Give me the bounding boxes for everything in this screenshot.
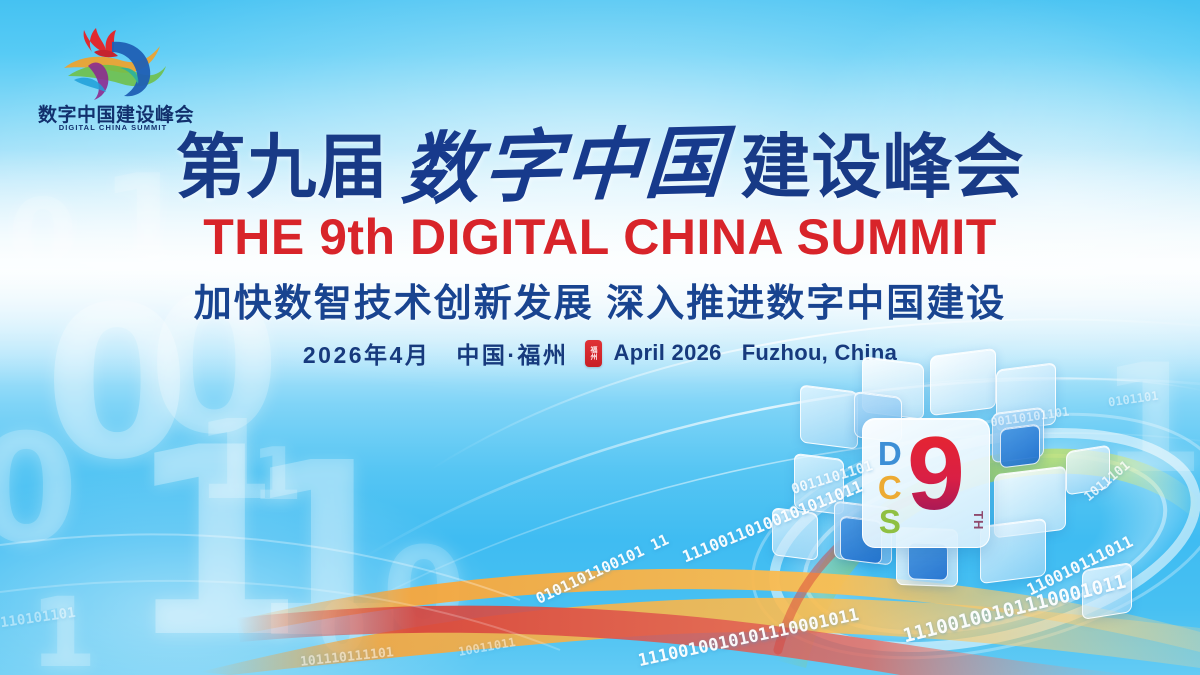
digital-china-summit-emblem-icon <box>54 22 172 100</box>
ghost-digit: 1 <box>30 595 95 672</box>
cube-tile <box>772 507 818 561</box>
binary-string: 101110111101 <box>299 645 394 670</box>
background-glow-bottom-left <box>0 425 600 675</box>
title-prefix-cn: 第九届 <box>175 132 388 202</box>
title-calligraphy-cn: 数字中国 <box>400 124 730 210</box>
binary-string: 0101101100101 11 <box>533 530 672 607</box>
ghost-digit: 1 <box>252 446 301 504</box>
ghost-digit: 0 <box>382 545 463 641</box>
main-title: 第九届 数字中国 建设峰会 <box>0 128 1200 206</box>
dateline-date-en: April 2026 <box>614 340 722 366</box>
dcs-letter-s: S <box>871 503 908 537</box>
dcs-badge: DCS 9 TH <box>862 418 990 548</box>
cube-tile <box>1082 562 1132 620</box>
dcs-lettering: DCS <box>874 435 905 537</box>
ghost-digit: 0 <box>0 430 75 550</box>
seal-label: 福州 <box>589 346 597 360</box>
title-suffix-cn: 建设峰会 <box>741 132 1025 202</box>
cube-tile <box>800 384 858 449</box>
edition-number: 9 <box>907 422 965 526</box>
ghost-digit: 1 <box>243 455 405 647</box>
binary-string: 110101101 <box>0 605 77 631</box>
main-title-en: THE 9th DIGITAL CHINA SUMMIT <box>0 208 1200 266</box>
fuzhou-seal-icon: 福州 <box>585 340 602 367</box>
cube-tile <box>1066 445 1110 496</box>
dcs-cube-graphic: DCS 9 TH <box>790 352 1120 652</box>
dateline-date-cn: 2026年4月 <box>303 336 430 370</box>
ghost-digit: 0 <box>318 600 365 656</box>
dcs-letter-d: D <box>871 435 908 469</box>
summit-logo[interactable]: 数字中国建设峰会 DIGITAL CHINA SUMMIT <box>38 22 188 142</box>
edition-ordinal-suffix: TH <box>971 511 986 530</box>
ghost-digit: 1 <box>125 440 301 648</box>
dateline-city-cn: 中国·福州 <box>456 336 568 370</box>
dcs-letter-c: C <box>871 469 908 503</box>
poster-banner: 1 0 0 0 0 1 1 1 1 1 0 0 1 <box>0 0 1200 675</box>
binary-string: 10011011 <box>457 635 516 659</box>
cube-tile <box>1000 424 1040 469</box>
slogan-cn: 加快数智技术创新发展 深入推进数字中国建设 <box>0 272 1200 327</box>
cube-tile <box>930 348 996 416</box>
ghost-digit: 1 <box>196 416 270 504</box>
